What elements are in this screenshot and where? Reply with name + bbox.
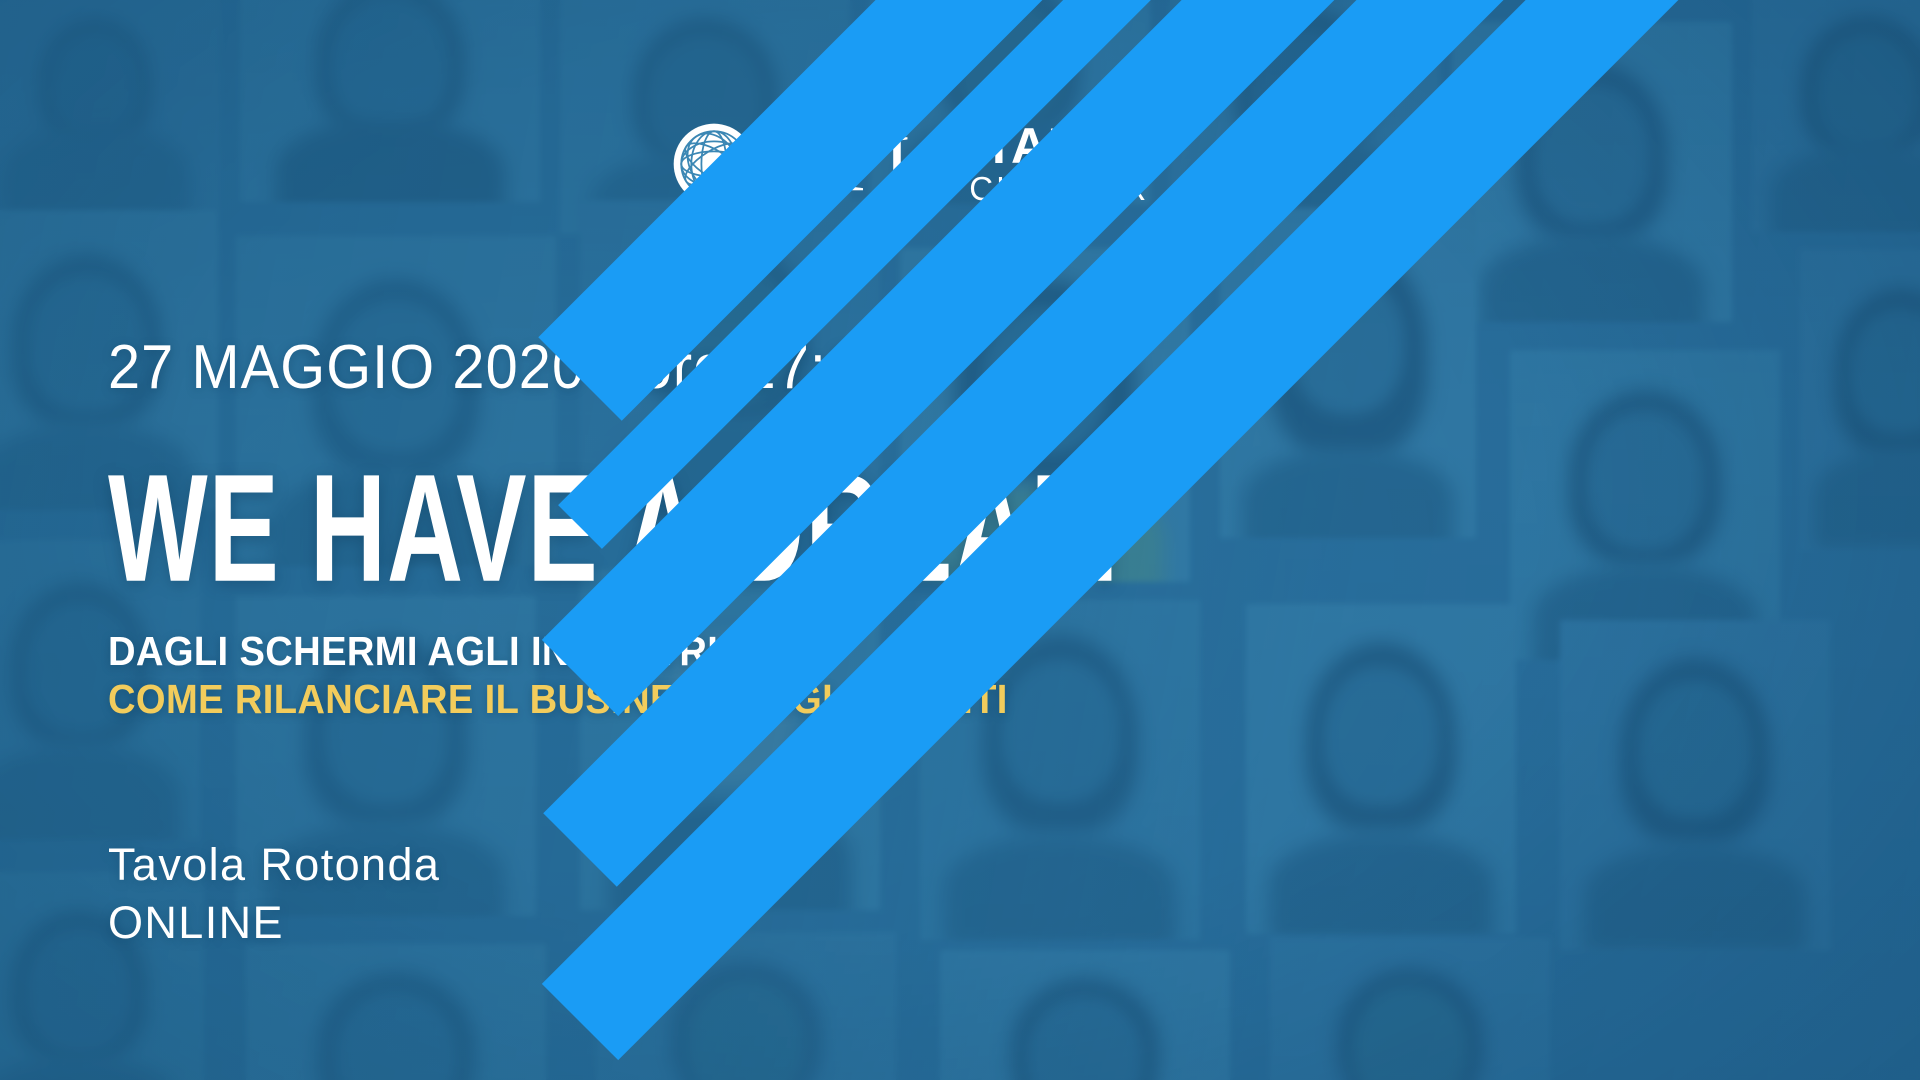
- globe-icon: [672, 122, 756, 206]
- mpi-wordmark: MPI: [766, 128, 911, 202]
- logo-divider: [941, 125, 943, 203]
- chapter-name: ITALIA: [969, 118, 1129, 174]
- mpi-italia-chapter-logo: MPI ITALIA CHAPTER: [672, 112, 1149, 216]
- chapter-label: CHAPTER: [969, 170, 1149, 207]
- event-details: Tavola Rotonda ONLINE: [108, 836, 440, 951]
- chapter-lockup: ITALIA CHAPTER: [969, 121, 1149, 208]
- event-date-time: 27 MAGGIO 2020 - ore 17:00: [108, 332, 893, 403]
- event-headline: WE HAVE A DREAM: [108, 452, 1119, 605]
- subtitle-line-1: DAGLI SCHERMI AGLI INCONTRI:: [108, 628, 1008, 676]
- event-subtitle: DAGLI SCHERMI AGLI INCONTRI: COME RILANC…: [108, 628, 1075, 723]
- event-location: ONLINE: [108, 894, 440, 952]
- event-format: Tavola Rotonda: [108, 836, 440, 894]
- event-poster: MPI ITALIA CHAPTER 27 MAGGIO 2020 - ore …: [0, 0, 1920, 1080]
- subtitle-line-2: COME RILANCIARE IL BUSINESS DEGLI EVENTI: [108, 676, 1008, 724]
